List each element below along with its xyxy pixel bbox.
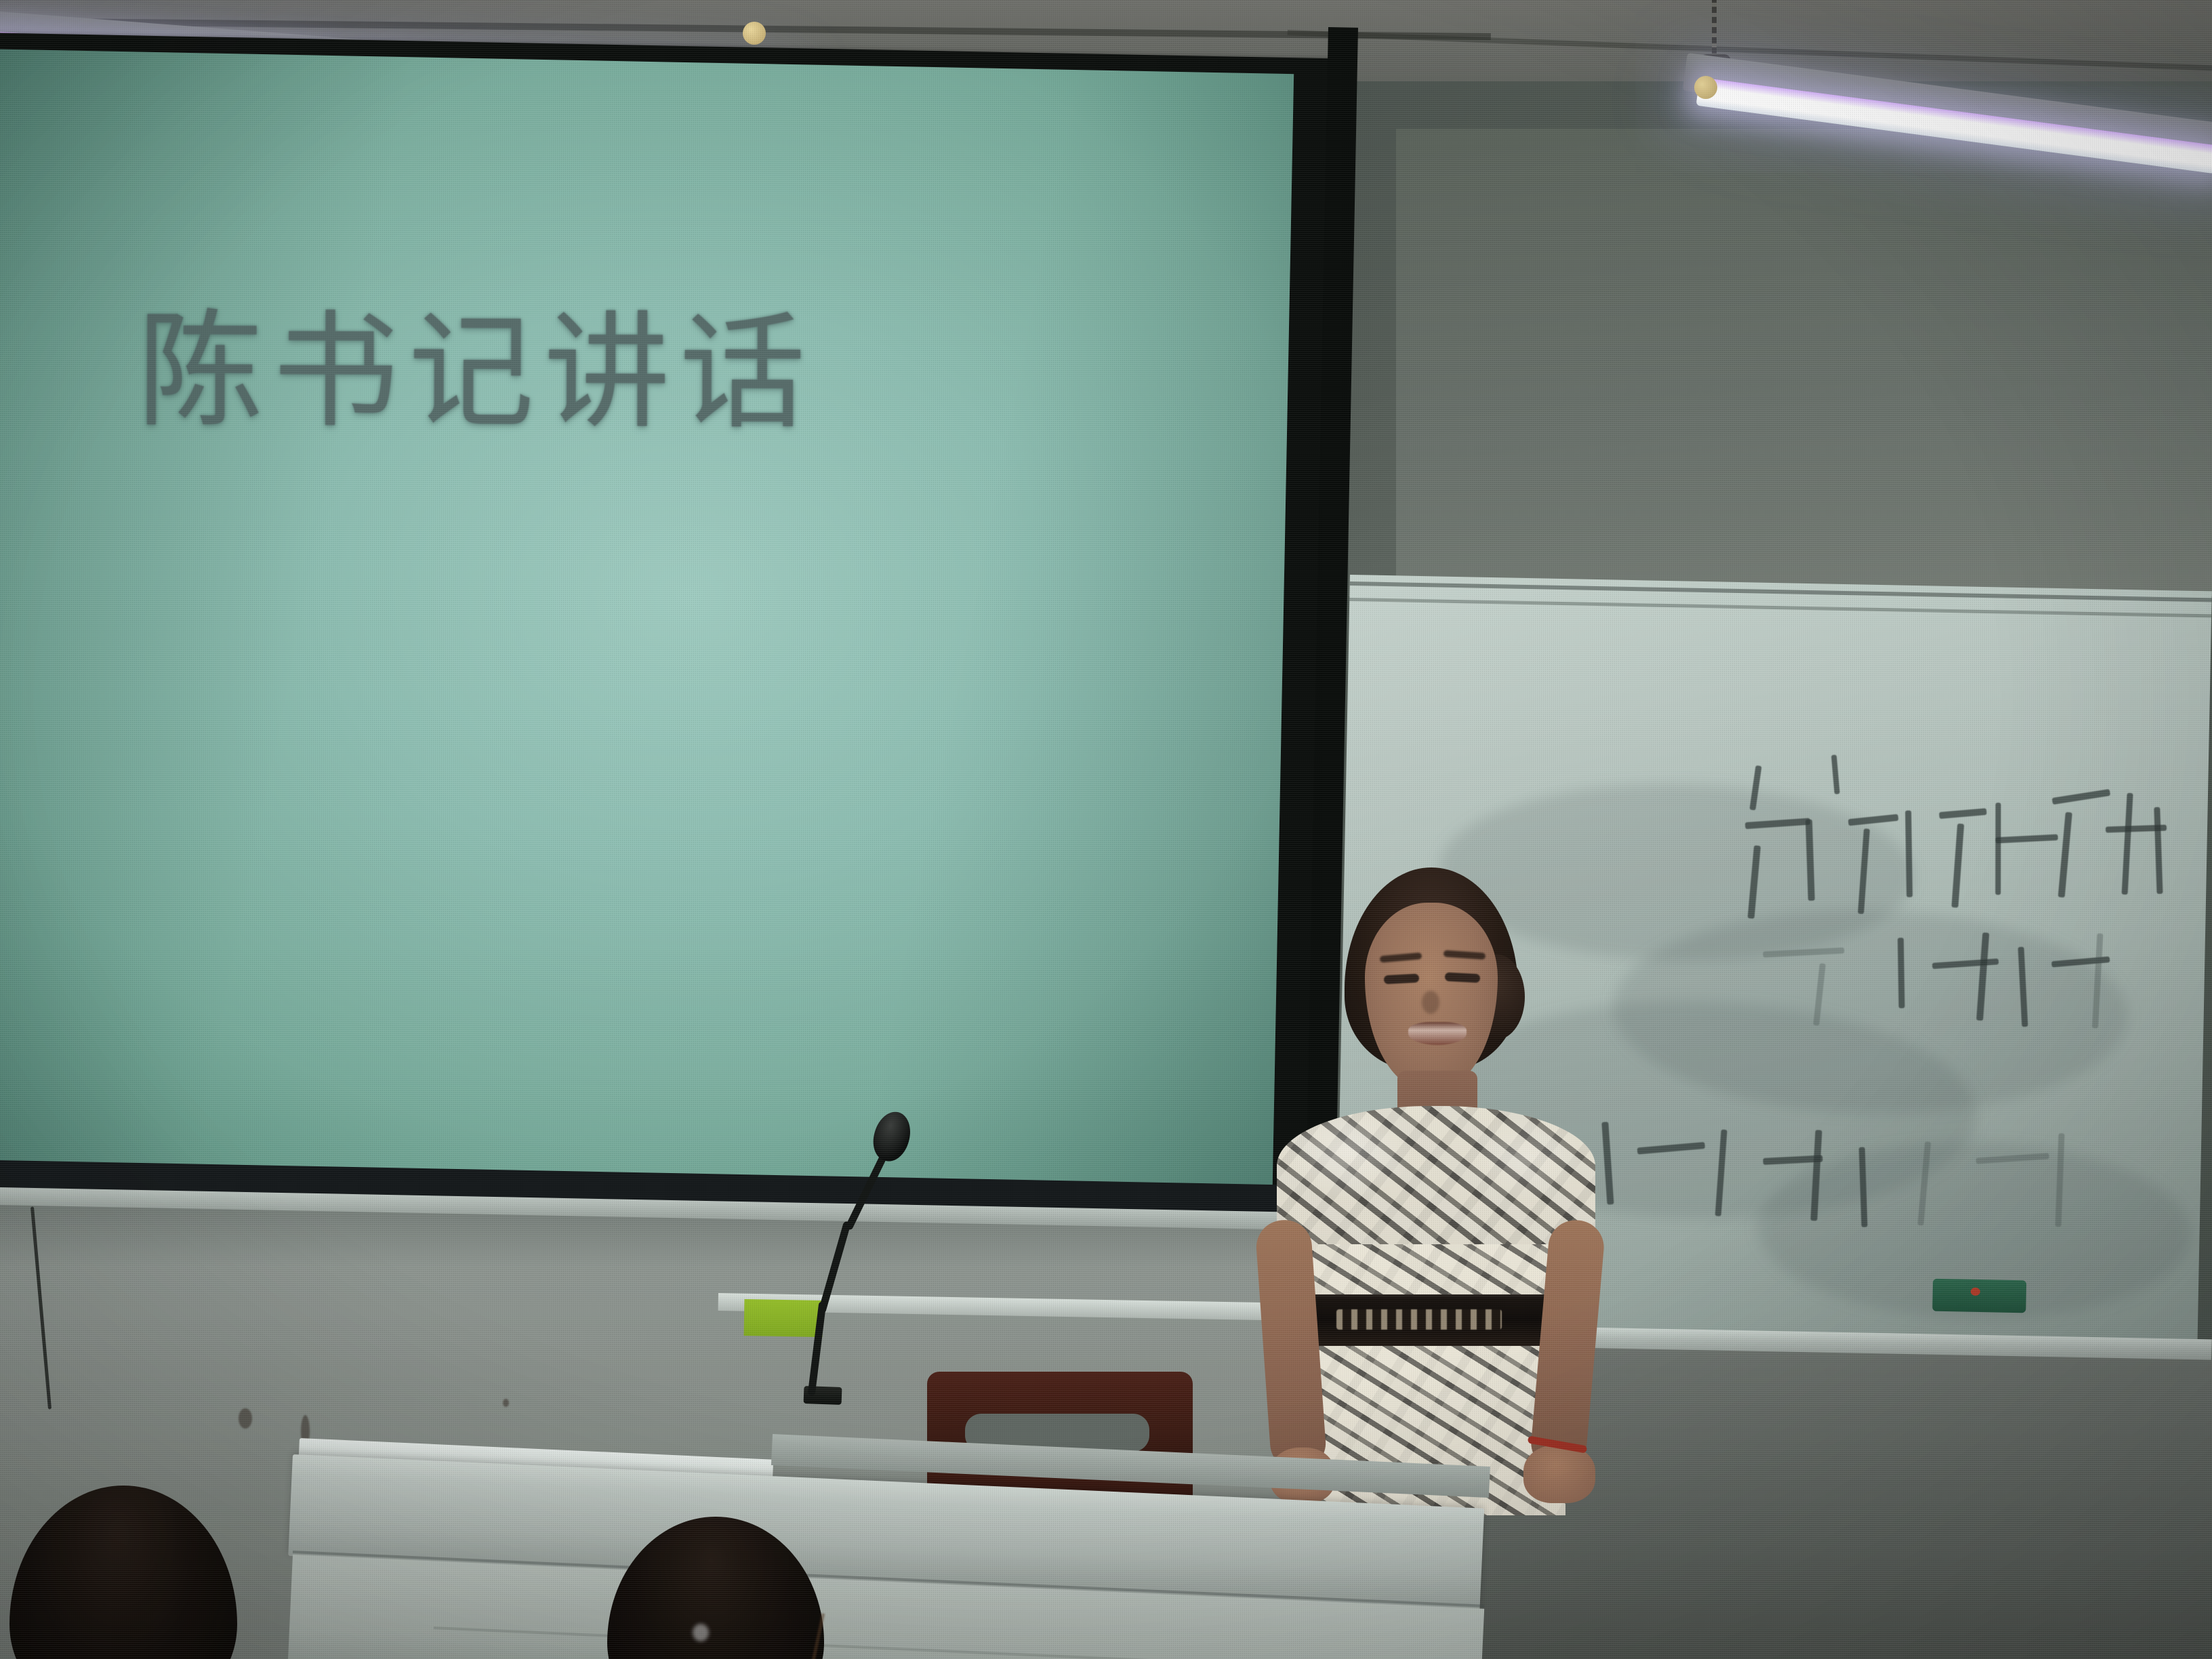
- screen-vignette: [0, 49, 1294, 1185]
- audience-head-highlight: [693, 1624, 709, 1641]
- wall-scuff-c: [503, 1399, 509, 1407]
- slide-title-text: 陈书记讲话: [137, 308, 815, 436]
- whiteboard-stroke: [1952, 823, 1965, 907]
- whiteboard-stroke: [2154, 807, 2163, 894]
- presenter-mouth: [1408, 1022, 1467, 1045]
- whiteboard-stroke: [2058, 812, 2072, 897]
- fluorescent-endcap-left: [743, 22, 766, 45]
- upper-wall-right-light: [1396, 129, 2212, 596]
- ceiling-fluorescent-right: [1613, 0, 2212, 163]
- presenter-belt-studs: [1336, 1309, 1502, 1330]
- projection-screen-surface: 陈书记讲话: [0, 49, 1294, 1185]
- whiteboard-stroke: [2122, 793, 2133, 895]
- presenter-hand-right: [1523, 1445, 1595, 1503]
- classroom-photo-scene: 陈书记讲话: [0, 0, 2212, 1659]
- whiteboard-eraser-indicator: [1971, 1288, 1980, 1296]
- whiteboard-trim-top-2: [1349, 598, 2212, 618]
- light-chain: [1712, 0, 1717, 61]
- whiteboard-eraser[interactable]: [1932, 1279, 2026, 1313]
- whiteboard-stroke: [1939, 808, 1987, 819]
- whiteboard-stroke: [1898, 938, 1905, 1008]
- presenter-nose: [1422, 991, 1439, 1014]
- whiteboard-stroke: [1905, 811, 1912, 897]
- presenter-eye-right: [1445, 972, 1481, 983]
- presenter-eye-left: [1384, 974, 1420, 985]
- wall-scuff-a: [239, 1408, 252, 1429]
- whiteboard-stroke: [1831, 755, 1840, 794]
- whiteboard-stroke: [1995, 802, 2001, 895]
- whiteboard-stroke: [2052, 789, 2111, 804]
- projection-screen-frame: 陈书记讲话: [0, 33, 1335, 1221]
- whiteboard-stroke: [1848, 814, 1899, 826]
- green-wall-label: [744, 1299, 823, 1337]
- fluorescent-endcap-right: [1694, 76, 1717, 99]
- whiteboard-stroke: [1996, 834, 2058, 844]
